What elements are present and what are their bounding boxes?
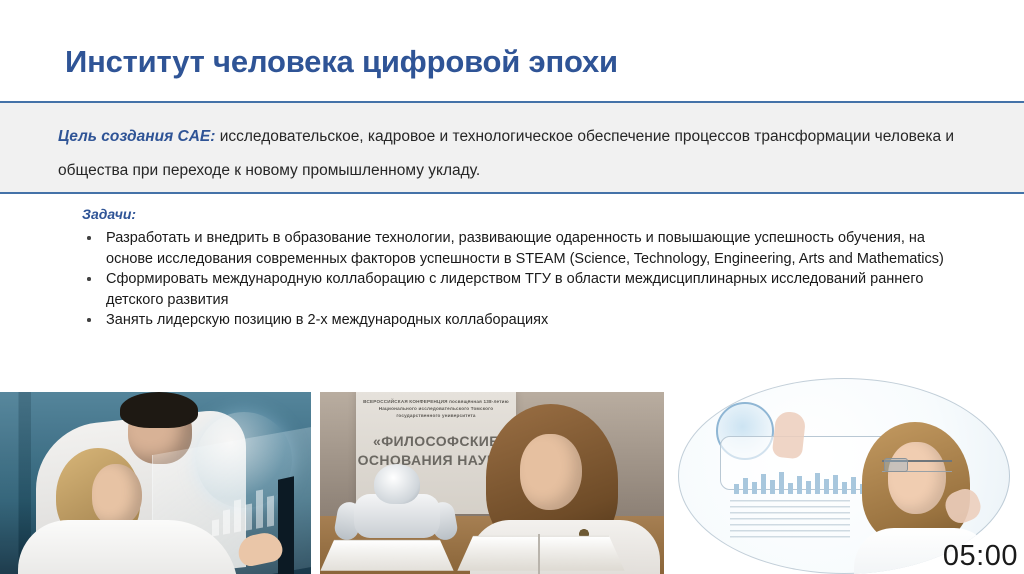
photo3-text-lines: [730, 500, 850, 540]
tasks-list: Разработать и внедрить в образование тех…: [82, 228, 952, 331]
bullet-icon: [87, 277, 91, 281]
photo2-girl-face: [520, 434, 582, 510]
goal-label: Цель создания CAE:: [58, 128, 215, 145]
photo-strip: ВСЕРОССИЙСКАЯ КОНФЕРЕНЦИЯ посвящённая 13…: [0, 378, 1024, 574]
photo3-face: [888, 442, 946, 514]
photo1-man-hair: [120, 392, 198, 428]
list-item: Сформировать международную коллаборацию …: [82, 269, 952, 310]
list-item-text: Разработать и внедрить в образование тех…: [106, 230, 944, 267]
title-area: Институт человека цифровой эпохи: [0, 0, 1024, 102]
photo2-book-right: [457, 536, 624, 571]
tasks-label: Задачи:: [82, 206, 136, 222]
goal-band: Цель создания CAE: исследовательское, ка…: [0, 103, 1024, 194]
bullet-icon: [87, 318, 91, 322]
photo2-book-spine: [538, 534, 540, 574]
page-title: Институт человека цифровой эпохи: [65, 44, 618, 80]
list-item: Занять лидерскую позицию в 2-х междунаро…: [82, 310, 952, 331]
list-item-text: Сформировать международную коллаборацию …: [106, 271, 923, 308]
photo-touchscreen-collaboration: [0, 392, 311, 574]
photo3-hand-raised: [772, 411, 807, 460]
slide-root: Институт человека цифровой эпохи Цель со…: [0, 0, 1024, 574]
list-item-text: Занять лидерскую позицию в 2-х междунаро…: [106, 312, 548, 328]
goal-text: Цель создания CAE: исследовательское, ка…: [58, 120, 988, 188]
photo2-book-left: [320, 540, 453, 571]
photo1-monitor-edge: [278, 476, 294, 574]
photo2-banner-subtitle: ВСЕРОССИЙСКАЯ КОНФЕРЕНЦИЯ посвящённая 13…: [362, 398, 510, 419]
photo3-glass-lens: [884, 458, 908, 472]
timer-display: 05:00: [943, 540, 1018, 573]
photo2-robot-head: [374, 464, 420, 504]
bullet-icon: [87, 236, 91, 240]
photo1-woman-face: [92, 464, 142, 526]
list-item: Разработать и внедрить в образование тех…: [82, 228, 952, 269]
photo-girl-reading-with-robot: ВСЕРОССИЙСКАЯ КОНФЕРЕНЦИЯ посвящённая 13…: [320, 392, 664, 574]
